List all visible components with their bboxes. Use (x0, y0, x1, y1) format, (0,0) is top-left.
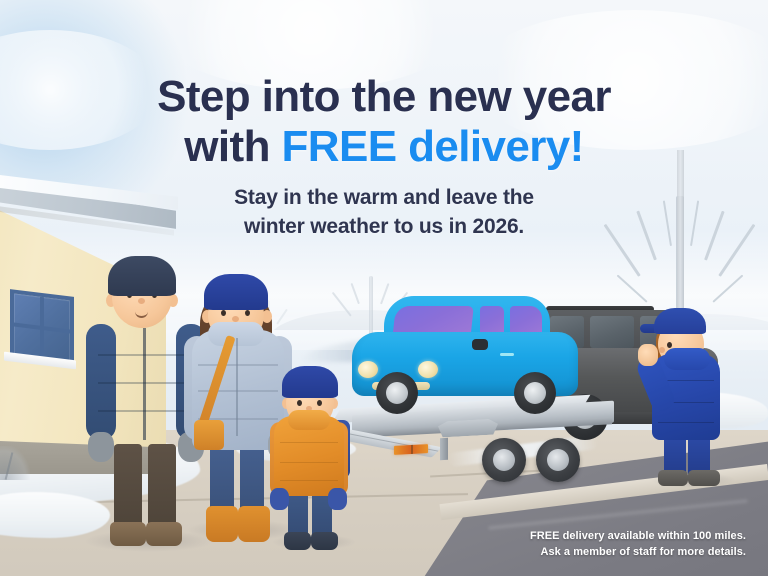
fine-print-line-2: Ask a member of staff for more details. (530, 544, 746, 560)
mitten-left (270, 488, 289, 510)
quilt-seam (98, 410, 194, 412)
car-wheel (514, 372, 556, 414)
door-handle-icon (500, 353, 514, 356)
subheading: Stay in the warm and leave the winter we… (0, 183, 768, 241)
wing-mirror-icon (472, 339, 488, 350)
nose (659, 347, 665, 353)
boot-right (238, 506, 270, 542)
beanie-hat (282, 366, 338, 398)
nose (138, 298, 145, 304)
quilt-seam (280, 480, 338, 481)
promo-poster: Step into the new year with FREE deliver… (0, 0, 768, 576)
leg-right (148, 444, 176, 530)
car-wheel (376, 372, 418, 414)
fine-print-line-1: FREE delivery available within 100 miles… (530, 528, 746, 544)
boot-left (110, 522, 146, 546)
jacket-collar (288, 410, 330, 430)
baseball-cap (654, 308, 706, 334)
eye-left (221, 310, 226, 316)
eye-left (297, 400, 302, 406)
glove-left (88, 432, 114, 462)
subheading-line-2: winter weather to us in 2026. (0, 212, 768, 241)
quilt-seam (98, 382, 194, 384)
headline-line-1: Step into the new year (0, 72, 768, 122)
boot-right (311, 532, 338, 550)
trailer-wheel (482, 438, 526, 482)
quilt-seam (98, 354, 194, 356)
subheading-line-1: Stay in the warm and leave the (0, 183, 768, 212)
eye-right (245, 310, 250, 316)
headline-prefix: with (184, 122, 281, 171)
boot-right (146, 522, 182, 546)
jacket-zip (143, 328, 146, 440)
mitten-right (328, 488, 347, 510)
headlamp-icon (418, 361, 438, 378)
headline: Step into the new year with FREE deliver… (0, 72, 768, 172)
boot-left (206, 506, 238, 542)
trailer-marker-light-icon (394, 444, 428, 455)
boot-left (658, 470, 688, 486)
blue-car (352, 296, 578, 414)
person-child (272, 358, 350, 550)
crossbody-bag (194, 420, 224, 450)
headline-line-2: with FREE delivery! (0, 122, 768, 172)
fine-print: FREE delivery available within 100 miles… (530, 528, 746, 560)
beanie-hat (108, 256, 176, 296)
suv-side-window (590, 316, 634, 348)
hand-left (638, 344, 658, 366)
jacket-collar (110, 310, 174, 336)
leg-left (114, 444, 142, 530)
headlamp-icon (358, 361, 378, 378)
eye-right (317, 400, 322, 406)
tree-branch (617, 274, 648, 302)
shrub-icon (0, 446, 30, 480)
jacket-zip (236, 338, 238, 436)
person-delivery-staff (652, 298, 726, 486)
jacket-collar (664, 348, 710, 370)
headline-accent: FREE delivery! (282, 122, 584, 171)
boot-right (688, 470, 720, 486)
quilt-seam (658, 422, 714, 423)
trailer-wheel (536, 438, 580, 482)
trailer-hitch (440, 438, 448, 460)
beanie-hat (204, 274, 268, 310)
eye (667, 342, 672, 348)
quilt-seam (280, 462, 338, 463)
quilt-seam (280, 442, 338, 443)
quilt-seam (198, 364, 278, 366)
boot-left (284, 532, 311, 550)
